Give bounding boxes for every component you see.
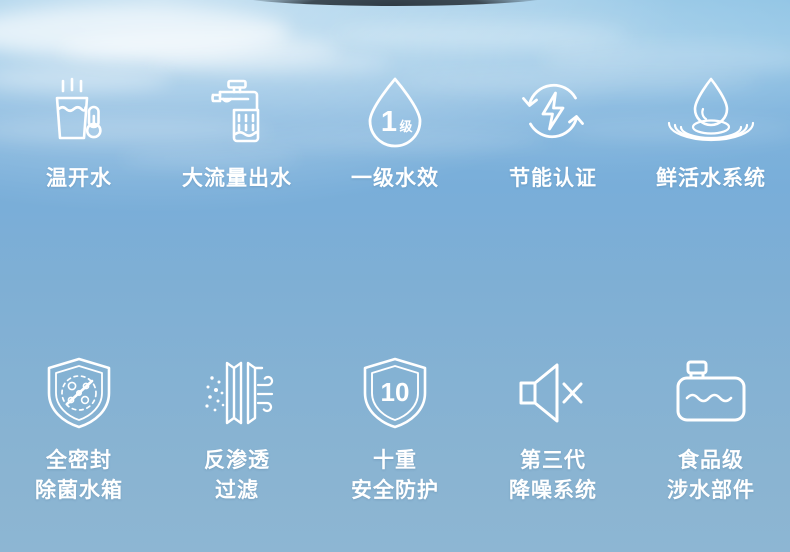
feature-label: 节能认证 xyxy=(509,164,597,194)
feature-item-warm-water: 温开水 xyxy=(0,74,158,244)
feature-item-high-flow: 大流量出水 xyxy=(158,74,316,244)
grade-unit: 级 xyxy=(399,119,413,134)
grade-number: 1 xyxy=(381,106,397,138)
sealed-antibacterial-shield-icon xyxy=(40,354,118,432)
feature-label: 鲜活水系统 xyxy=(656,164,766,194)
feature-grid: 温开水 大流量出水 xyxy=(0,0,790,552)
mute-speaker-icon xyxy=(514,354,592,432)
feature-item-noise-reduction: 第三代 降噪系统 xyxy=(474,354,632,552)
feature-item-ro-filter: 反渗透 过滤 xyxy=(158,354,316,552)
feature-item-energy-saving: 节能认证 xyxy=(474,74,632,244)
food-grade-water-tank-icon xyxy=(672,354,750,432)
reverse-osmosis-filter-icon xyxy=(198,354,276,432)
feature-item-water-efficiency: 1 级 一级水效 xyxy=(316,74,474,244)
ten-layer-protection-shield-icon: 10 xyxy=(356,354,434,432)
feature-label: 第三代 降噪系统 xyxy=(509,446,597,506)
feature-label: 反渗透 过滤 xyxy=(204,446,270,506)
water-drop-ripple-icon xyxy=(674,74,748,148)
feature-item-sealed-tank: 全密封 除菌水箱 xyxy=(0,354,158,552)
feature-label: 食品级 涉水部件 xyxy=(667,446,755,506)
warm-water-glass-thermometer-icon xyxy=(42,74,116,148)
feature-item-food-grade-parts: 食品级 涉水部件 xyxy=(632,354,790,552)
product-feature-banner: 温开水 大流量出水 xyxy=(0,0,790,552)
faucet-high-flow-icon xyxy=(200,74,274,148)
feature-label: 温开水 xyxy=(46,164,112,194)
feature-label: 一级水效 xyxy=(351,164,439,194)
protection-count: 10 xyxy=(381,377,410,407)
energy-saving-recycle-bolt-icon xyxy=(516,74,590,148)
feature-item-fresh-water-system: 鲜活水系统 xyxy=(632,74,790,244)
feature-label: 十重 安全防护 xyxy=(351,446,439,506)
feature-label: 大流量出水 xyxy=(182,164,292,194)
feature-item-ten-layer-protection: 10 十重 安全防护 xyxy=(316,354,474,552)
water-drop-grade-icon: 1 级 xyxy=(358,74,432,148)
feature-label: 全密封 除菌水箱 xyxy=(35,446,123,506)
